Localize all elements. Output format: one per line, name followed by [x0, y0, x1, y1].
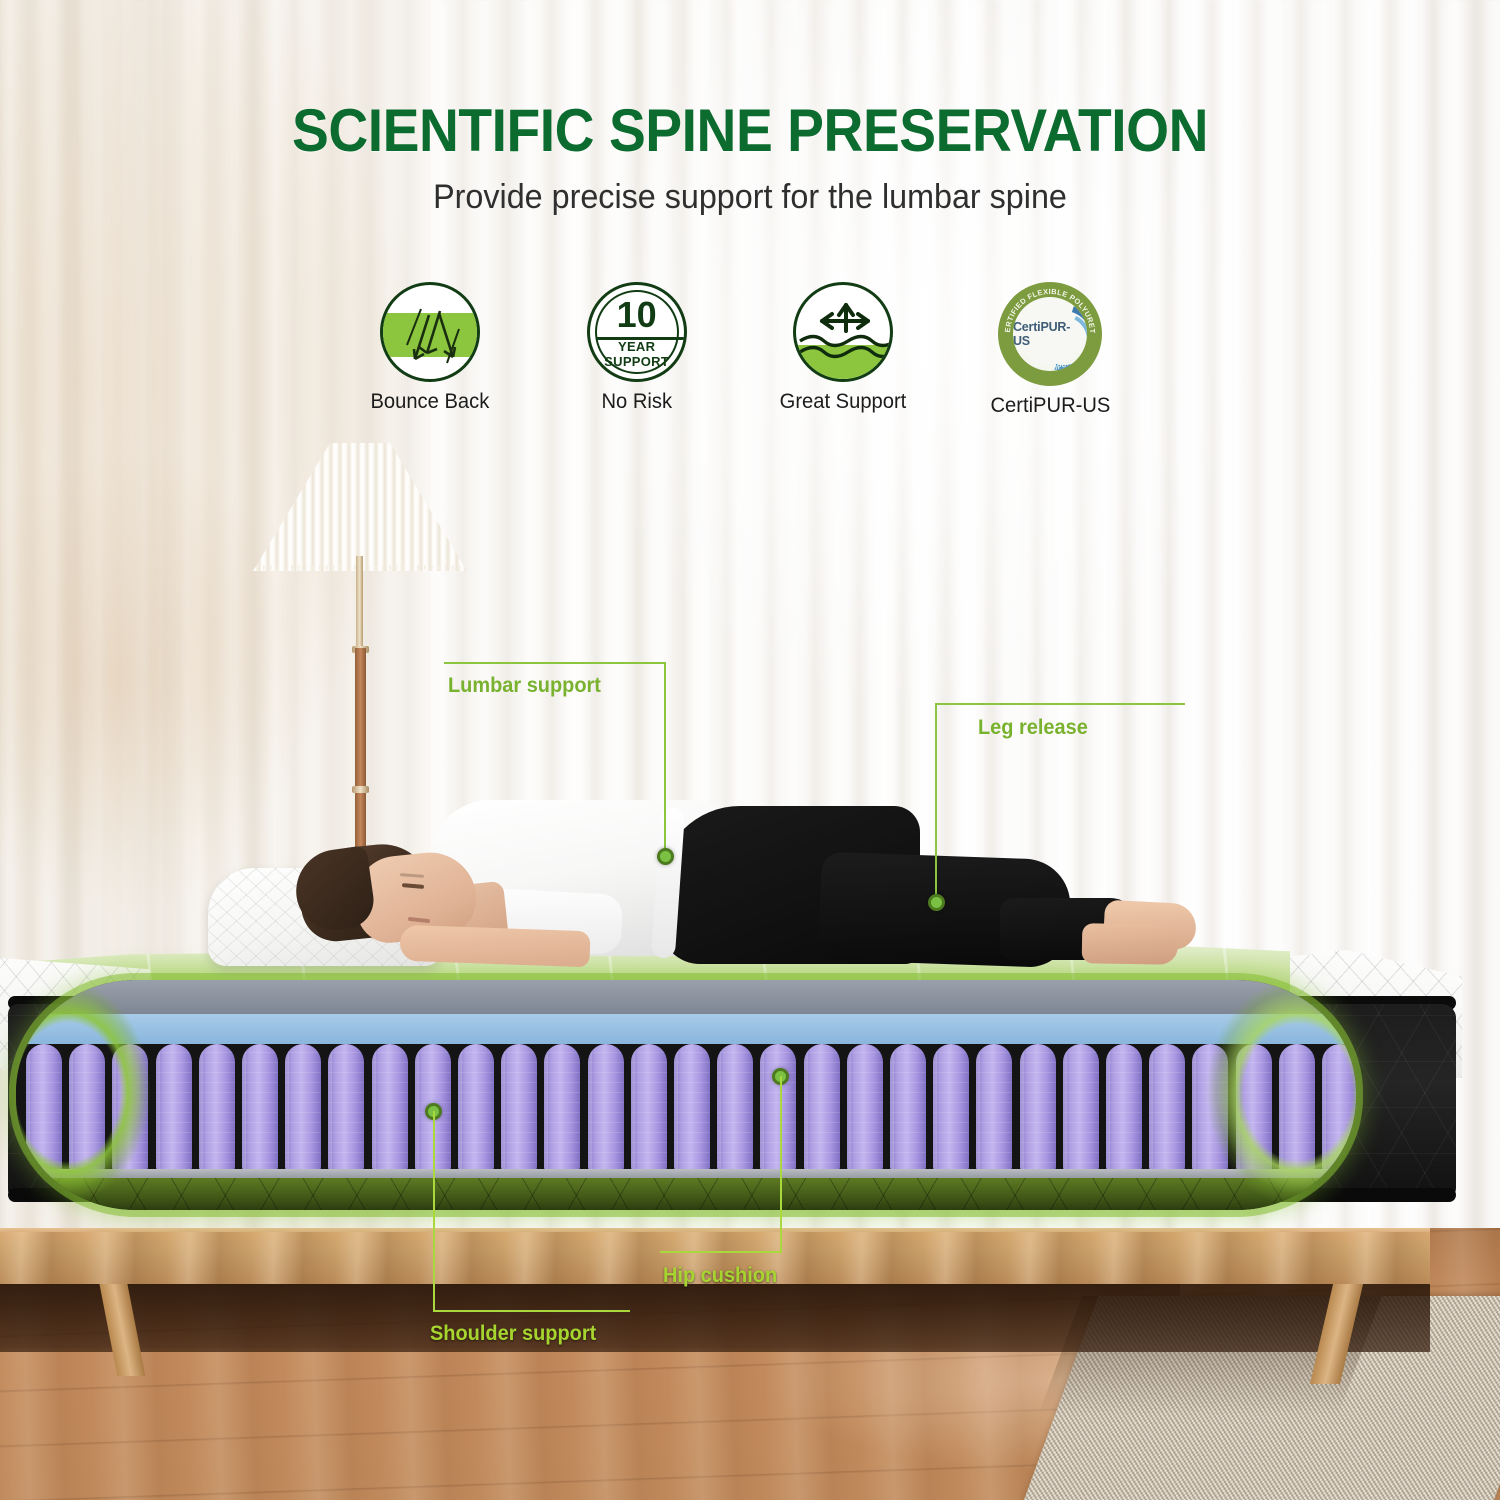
layer-gray-foam [16, 980, 1356, 1014]
seal-ring-text: CONTAINS CERTIFIED FLEXIBLE POLYURETHANE… [998, 282, 1102, 386]
leg-release-leader-vertical [935, 703, 937, 902]
pocket-coil [804, 1044, 840, 1172]
mattress-layer-cutaway [16, 980, 1356, 1210]
pocket-coil [760, 1044, 796, 1172]
pocket-coil [717, 1044, 753, 1172]
great-support-icon [793, 282, 893, 382]
pocket-coil [285, 1044, 321, 1172]
hip-cushion-leader-horizontal [660, 1251, 782, 1253]
pocket-coil [328, 1044, 364, 1172]
layer-pocket-coils [16, 1044, 1356, 1172]
badge-certipur: CONTAINS CERTIFIED FLEXIBLE POLYURETHANE… [960, 282, 1140, 418]
pocket-coil [156, 1044, 192, 1172]
lumbar-support-leader-vertical [664, 662, 666, 858]
pocket-coil [199, 1044, 235, 1172]
pocket-coil [1063, 1044, 1099, 1172]
badge-great-support: Great Support [753, 282, 933, 414]
certipur-us-seal-icon: CONTAINS CERTIFIED FLEXIBLE POLYURETHANE… [998, 282, 1102, 386]
pocket-coil [458, 1044, 494, 1172]
lumbar-support-marker [657, 848, 674, 865]
leg-release-leader-horizontal [935, 703, 1185, 705]
ten-year-support-icon: 10 YEAR SUPPORT [587, 282, 687, 382]
pocket-coil [588, 1044, 624, 1172]
pocket-coil [1020, 1044, 1056, 1172]
badge-label: No Risk [601, 390, 672, 414]
pocket-coil [847, 1044, 883, 1172]
pocket-coil [890, 1044, 926, 1172]
lumbar-support-label: Lumbar support [448, 674, 601, 698]
seal-ring-bottom-text: WWW.CERTIPUR-US [1018, 351, 1082, 372]
pocket-coil [674, 1044, 710, 1172]
badge-label: CertiPUR-US [990, 394, 1110, 418]
shoulder-support-label: Shoulder support [430, 1322, 596, 1346]
person-foot-lower [1082, 923, 1179, 965]
pocket-coil [242, 1044, 278, 1172]
leg-release-marker [928, 894, 945, 911]
layer-blue-foam [16, 1014, 1356, 1044]
pocket-coil [933, 1044, 969, 1172]
floor-lamp-neck [356, 556, 363, 652]
product-infographic: SCIENTIFIC SPINE PRESERVATION Provide pr… [0, 0, 1500, 1500]
pocket-coil [372, 1044, 408, 1172]
seal-ring-top-text: CONTAINS CERTIFIED FLEXIBLE POLYURETHANE… [998, 282, 1097, 334]
badge-no-risk: 10 YEAR SUPPORT No Risk [547, 282, 727, 414]
cutaway-glow-left [16, 980, 160, 1210]
pocket-coil [1149, 1044, 1185, 1172]
hip-cushion-leader-vertical [780, 1076, 782, 1253]
pocket-coil [1106, 1044, 1142, 1172]
pocket-coil [976, 1044, 1012, 1172]
under-bed-shadow [0, 1278, 1430, 1352]
warranty-years: 10 [590, 297, 684, 333]
bounce-back-icon [380, 282, 480, 382]
page-title: SCIENTIFIC SPINE PRESERVATION [60, 96, 1440, 165]
page-subtitle: Provide precise support for the lumbar s… [38, 178, 1463, 217]
pocket-coil [501, 1044, 537, 1172]
warranty-line-2: SUPPORT [604, 354, 669, 369]
hip-cushion-label: Hip cushion [663, 1264, 777, 1288]
leg-release-label: Leg release [978, 716, 1088, 740]
pocket-coil [631, 1044, 667, 1172]
warranty-line-1: YEAR [618, 339, 655, 354]
badge-bounce-back: Bounce Back [340, 282, 520, 414]
mattress-cutaway [0, 944, 1462, 1244]
badge-label: Bounce Back [371, 390, 490, 414]
shoulder-support-leader-vertical [433, 1111, 435, 1312]
layer-base-foam [16, 1178, 1356, 1210]
badge-label: Great Support [780, 390, 907, 414]
warranty-text: YEAR SUPPORT [590, 340, 684, 370]
floor-lamp-pole [355, 648, 366, 848]
feature-badge-row: Bounce Back 10 YEAR SUPPORT No Risk [340, 282, 1140, 432]
floor-lamp-ring-lower [352, 786, 369, 793]
pocket-coil [544, 1044, 580, 1172]
lumbar-support-leader-horizontal [444, 662, 666, 664]
cutaway-glow-right [1192, 980, 1356, 1210]
person-forearm [399, 925, 590, 968]
shoulder-support-leader-horizontal [433, 1310, 630, 1312]
